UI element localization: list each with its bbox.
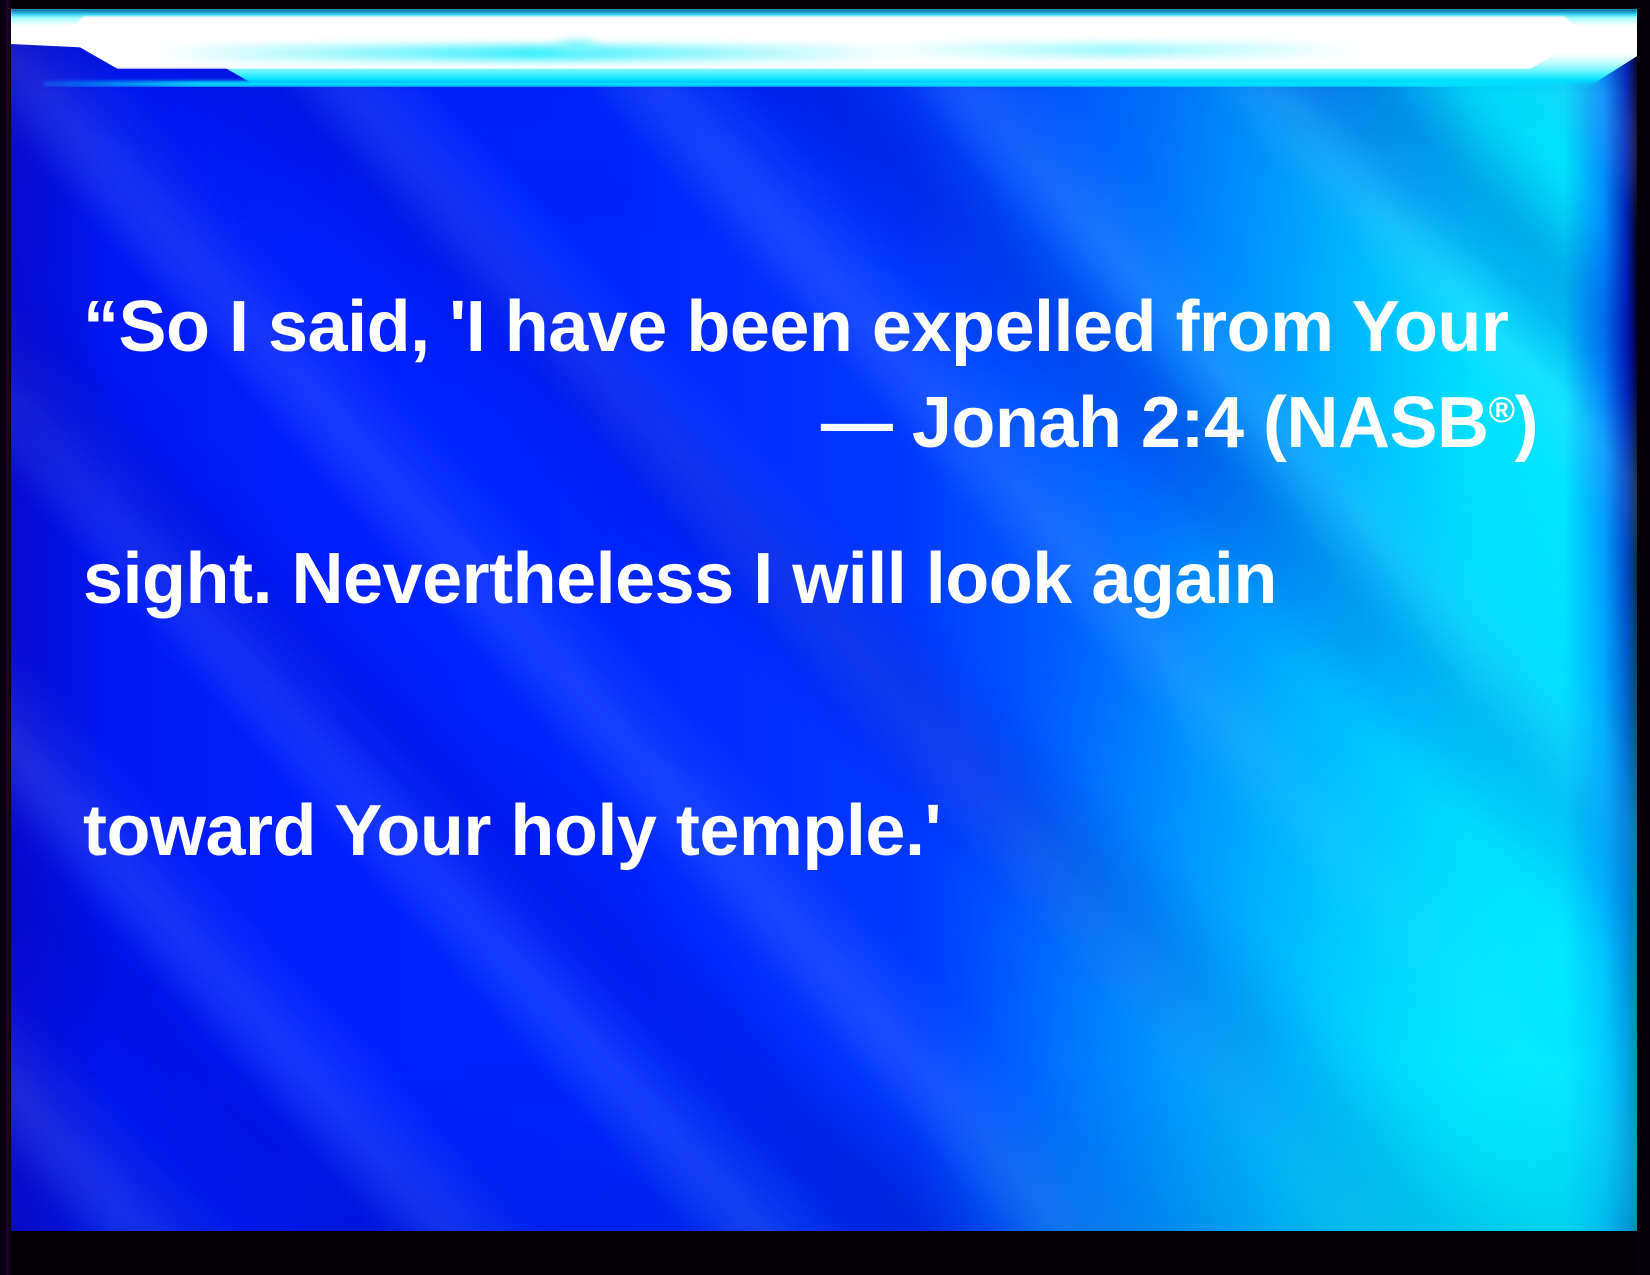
verse-line-3: toward Your holy temple.' bbox=[83, 789, 1543, 873]
bible-verse-slide: “So I said, 'I have been expelled from Y… bbox=[0, 0, 1650, 1275]
attribution-dash: — bbox=[821, 383, 912, 463]
border-left bbox=[0, 0, 11, 1275]
verse-line-2: sight. Nevertheless I will look again bbox=[83, 537, 1543, 621]
border-top bbox=[0, 0, 1650, 9]
verse-attribution: — Jonah 2:4 (NASB®) bbox=[83, 381, 1538, 465]
attribution-close-paren: ) bbox=[1515, 383, 1538, 463]
border-bottom bbox=[0, 1231, 1650, 1275]
attribution-reference: Jonah 2:4 (NASB bbox=[912, 383, 1489, 463]
text-layer: “So I said, 'I have been expelled from Y… bbox=[11, 9, 1637, 1231]
verse-line-1: “So I said, 'I have been expelled from Y… bbox=[83, 285, 1543, 369]
registered-trademark-icon: ® bbox=[1488, 389, 1514, 430]
border-right bbox=[1637, 0, 1650, 1275]
verse-text: “So I said, 'I have been expelled from Y… bbox=[83, 117, 1543, 1041]
